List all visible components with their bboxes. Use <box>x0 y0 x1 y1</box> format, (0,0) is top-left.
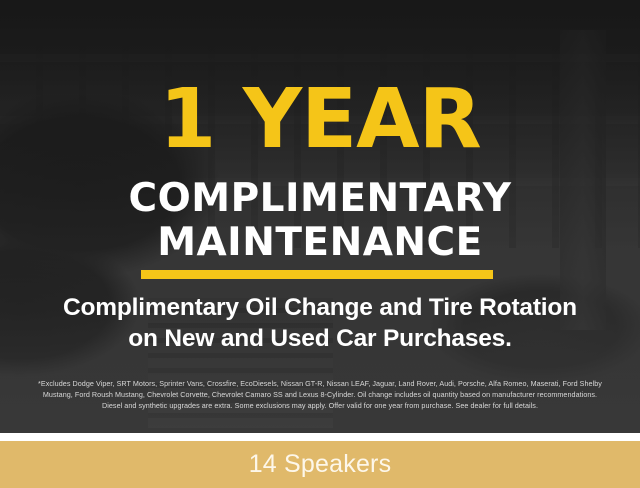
headline-complimentary: COMPLIMENTARY <box>0 178 640 220</box>
promo-content: 1 YEAR COMPLIMENTARY MAINTENANCE Complim… <box>0 0 640 488</box>
footer-label: 14 Speakers <box>249 450 392 479</box>
yellow-divider-rule <box>141 270 493 279</box>
white-separator-strip <box>0 433 640 441</box>
headline-maintenance: MAINTENANCE <box>0 222 640 264</box>
subheadline-line-1: Complimentary Oil Change and Tire Rotati… <box>24 292 616 323</box>
subheadline: Complimentary Oil Change and Tire Rotati… <box>24 292 616 354</box>
headline-year: 1 YEAR <box>0 78 640 162</box>
disclaimer-line-1: *Excludes Dodge Viper, SRT Motors, Sprin… <box>14 378 626 389</box>
disclaimer-line-2: Mustang, Ford Roush Mustang, Chevrolet C… <box>14 389 626 400</box>
disclaimer-fine-print: *Excludes Dodge Viper, SRT Motors, Sprin… <box>14 378 626 411</box>
subheadline-line-2: on New and Used Car Purchases. <box>24 323 616 354</box>
footer-bar[interactable]: 14 Speakers <box>0 441 640 488</box>
promotion-card: 1 YEAR COMPLIMENTARY MAINTENANCE Complim… <box>0 0 640 488</box>
disclaimer-line-3: Diesel and synthetic upgrades are extra.… <box>14 400 626 411</box>
